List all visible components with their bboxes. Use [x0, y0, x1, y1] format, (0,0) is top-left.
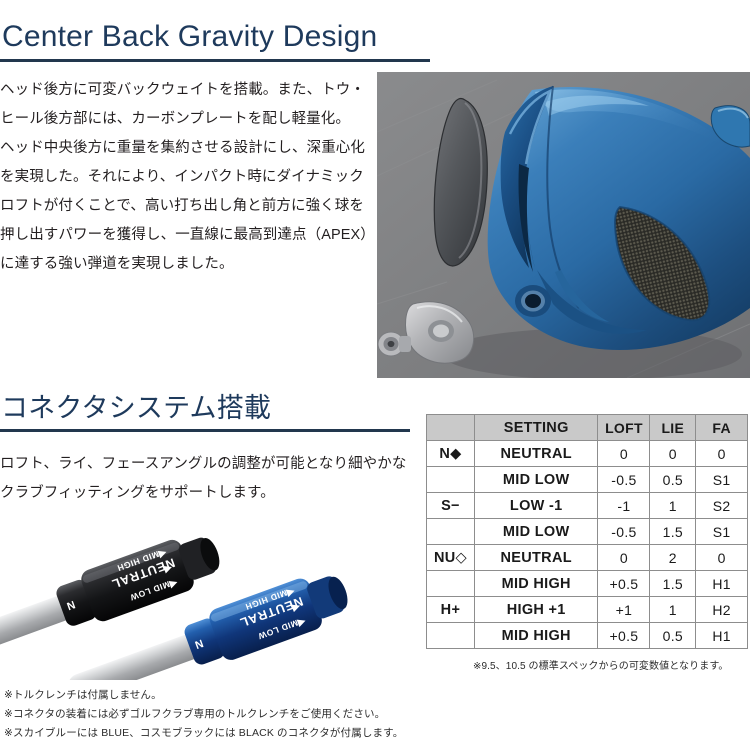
product-feature-page: Center Back Gravity Design ヘッド後方に可変バックウェ…	[0, 0, 750, 750]
footnote-item: ※トルクレンチは付属しません。	[4, 686, 403, 705]
column-header-loft: LOFT	[598, 415, 650, 441]
footnotes-block: ※トルクレンチは付属しません。 ※コネクタの装着には必ずゴルフクラブ専用のトルク…	[4, 686, 403, 743]
cell-lie: 1	[650, 493, 696, 519]
cell-setting: MID LOW	[474, 519, 598, 545]
table-header-row: SETTING LOFT LIE FA	[427, 415, 748, 441]
driver-head-render-image	[377, 72, 750, 378]
cell-fa: 0	[696, 441, 748, 467]
table-row: MID LOW -0.5 0.5 S1	[427, 467, 748, 493]
cell-fa: H1	[696, 571, 748, 597]
cell-loft: -0.5	[598, 519, 650, 545]
cell-fa: S1	[696, 519, 748, 545]
cell-setting: MID LOW	[474, 467, 598, 493]
cell-loft: -0.5	[598, 467, 650, 493]
cell-lie: 2	[650, 545, 696, 571]
cell-loft: -1	[598, 493, 650, 519]
cell-setting: MID HIGH	[474, 571, 598, 597]
table-row: MID HIGH +0.5 1.5 H1	[427, 571, 748, 597]
column-header-lie: LIE	[650, 415, 696, 441]
cell-lie: 1.5	[650, 519, 696, 545]
table-row: N◆ NEUTRAL 0 0 0	[427, 441, 748, 467]
paragraph-line: ヘッド中央後方に重量を集約させる設計にし、深重心化	[0, 134, 372, 163]
cell-code: N◆	[427, 441, 475, 467]
weight-port-hole	[525, 294, 541, 308]
cell-lie: 0.5	[650, 623, 696, 649]
column-header-fa: FA	[696, 415, 748, 441]
section1-underline	[0, 59, 430, 62]
cell-code	[427, 623, 475, 649]
spec-table-note: ※9.5、10.5 の標準スペックからの可変数値となります。	[473, 657, 729, 672]
section-heading-center-back-gravity: Center Back Gravity Design	[0, 18, 430, 62]
section1-title: Center Back Gravity Design	[0, 18, 430, 56]
paragraph-line: を実現した。それにより、インパクト時にダイナミック	[0, 163, 372, 192]
cell-code	[427, 571, 475, 597]
paragraph-line: ロフト、ライ、フェースアングルの調整が可能となり細やかな	[0, 450, 395, 479]
table-row: MID LOW -0.5 1.5 S1	[427, 519, 748, 545]
cell-fa: H2	[696, 597, 748, 623]
cell-lie: 1.5	[650, 571, 696, 597]
cell-setting: NEUTRAL	[474, 441, 598, 467]
cell-fa: S1	[696, 467, 748, 493]
driver-head-illustration	[377, 72, 750, 378]
cell-lie: 1	[650, 597, 696, 623]
connector-sleeves-image: N NEUTRAL MID HIGH MID LOW N NEUTRAL MID…	[0, 508, 420, 680]
spec-table-head: SETTING LOFT LIE FA	[427, 415, 748, 441]
paragraph-line: に達する強い弾道を実現しました。	[0, 250, 372, 279]
cell-setting: LOW -1	[474, 493, 598, 519]
column-header-setting: SETTING	[474, 415, 598, 441]
cell-code	[427, 467, 475, 493]
cell-loft: 0	[598, 545, 650, 571]
connector-illustration: N NEUTRAL MID HIGH MID LOW N NEUTRAL MID…	[0, 508, 420, 680]
section-heading-connector-system: コネクタシステム搭載	[0, 390, 410, 432]
cell-loft: +1	[598, 597, 650, 623]
cell-setting: MID HIGH	[474, 623, 598, 649]
table-row: MID HIGH +0.5 0.5 H1	[427, 623, 748, 649]
cell-code: H+	[427, 597, 475, 623]
cell-code	[427, 519, 475, 545]
table-row: H+ HIGH +1 +1 1 H2	[427, 597, 748, 623]
paragraph-line: ヒール後方部には、カーボンプレートを配し軽量化。	[0, 105, 372, 134]
cell-fa: H1	[696, 623, 748, 649]
cell-setting: HIGH +1	[474, 597, 598, 623]
table-row: NU◇ NEUTRAL 0 2 0	[427, 545, 748, 571]
section1-description: ヘッド後方に可変バックウェイトを搭載。また、トウ・ ヒール後方部には、カーボンプ…	[0, 76, 372, 279]
weight-bore-inner	[433, 325, 449, 338]
section2-underline	[0, 429, 410, 432]
cell-lie: 0.5	[650, 467, 696, 493]
footnote-item: ※コネクタの装着には必ずゴルフクラブ専用のトルクレンチをご使用ください。	[4, 705, 403, 724]
footnote-item: ※スカイブルーには BLUE、コスモブラックには BLACK のコネクタが付属し…	[4, 724, 403, 743]
cell-code: NU◇	[427, 545, 475, 571]
cell-lie: 0	[650, 441, 696, 467]
column-header-code	[427, 415, 475, 441]
cell-fa: 0	[696, 545, 748, 571]
cell-loft: 0	[598, 441, 650, 467]
adjustment-spec-table: SETTING LOFT LIE FA N◆ NEUTRAL 0 0 0 MID…	[426, 414, 748, 649]
cell-loft: +0.5	[598, 623, 650, 649]
paragraph-line: クラブフィッティングをサポートします。	[0, 479, 395, 508]
cell-setting: NEUTRAL	[474, 545, 598, 571]
cell-loft: +0.5	[598, 571, 650, 597]
table-row: S− LOW -1 -1 1 S2	[427, 493, 748, 519]
section2-title: コネクタシステム搭載	[0, 390, 410, 426]
paragraph-line: ロフトが付くことで、高い打ち出し角と前方に強く球を	[0, 192, 372, 221]
paragraph-line: 押し出すパワーを獲得し、一直線に最高到達点（APEX）	[0, 221, 372, 250]
cell-fa: S2	[696, 493, 748, 519]
section2-description: ロフト、ライ、フェースアングルの調整が可能となり細やかな クラブフィッティングを…	[0, 450, 395, 508]
cell-code: S−	[427, 493, 475, 519]
spec-table-body: N◆ NEUTRAL 0 0 0 MID LOW -0.5 0.5 S1 S− …	[427, 441, 748, 649]
paragraph-line: ヘッド後方に可変バックウェイトを搭載。また、トウ・	[0, 76, 372, 105]
